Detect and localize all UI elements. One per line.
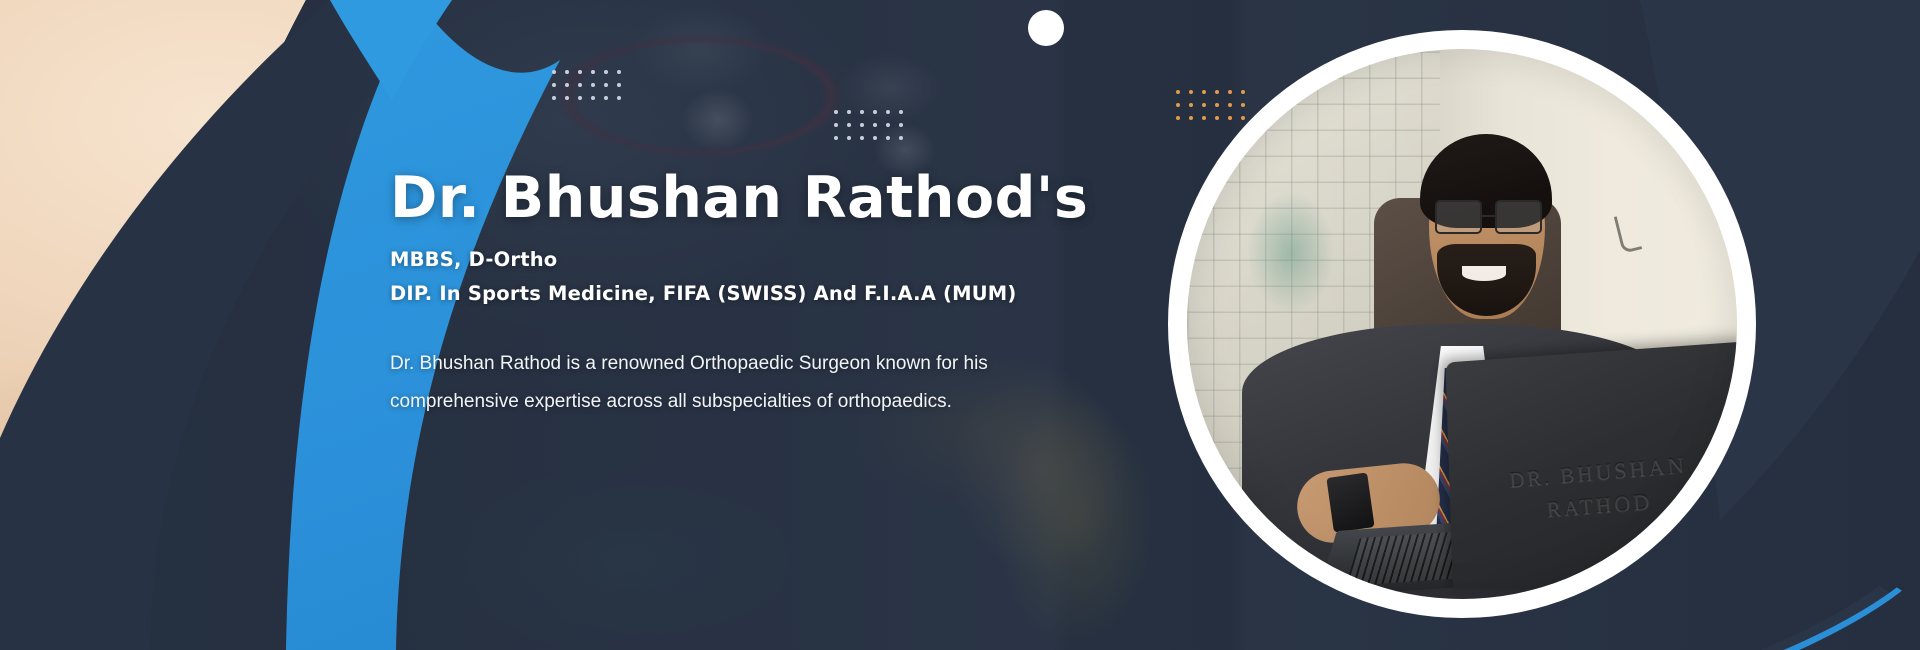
laptop-lid: DR. BHUSHAN RATHOD xyxy=(1445,340,1737,588)
laptop-engraving: DR. BHUSHAN RATHOD xyxy=(1470,443,1735,530)
laptop-engraving-line-1: DR. BHUSHAN xyxy=(1509,451,1689,492)
portrait-frame: DR. BHUSHAN RATHOD xyxy=(1168,30,1756,618)
hero-banner: Dr. Bhushan Rathod's MBBS, D-Ortho DIP. … xyxy=(0,0,1920,650)
hero-description: Dr. Bhushan Rathod is a renowned Orthopa… xyxy=(390,345,1070,421)
wristwatch-icon xyxy=(1326,473,1375,533)
laptop-engraving-line-2: RATHOD xyxy=(1546,488,1654,521)
smile xyxy=(1462,266,1506,280)
circle-accent-icon xyxy=(1028,10,1064,46)
doctor-portrait-photo: DR. BHUSHAN RATHOD xyxy=(1187,49,1737,599)
eyeglasses-icon xyxy=(1435,200,1542,234)
credential-line-2: DIP. In Sports Medicine, FIFA (SWISS) An… xyxy=(390,282,1110,305)
dot-grid-icon-1 xyxy=(552,70,621,100)
hero-copy: Dr. Bhushan Rathod's MBBS, D-Ortho DIP. … xyxy=(390,168,1110,421)
credential-line-1: MBBS, D-Ortho xyxy=(390,248,1110,271)
dot-grid-icon-2 xyxy=(834,110,903,140)
page-title: Dr. Bhushan Rathod's xyxy=(390,168,1110,230)
